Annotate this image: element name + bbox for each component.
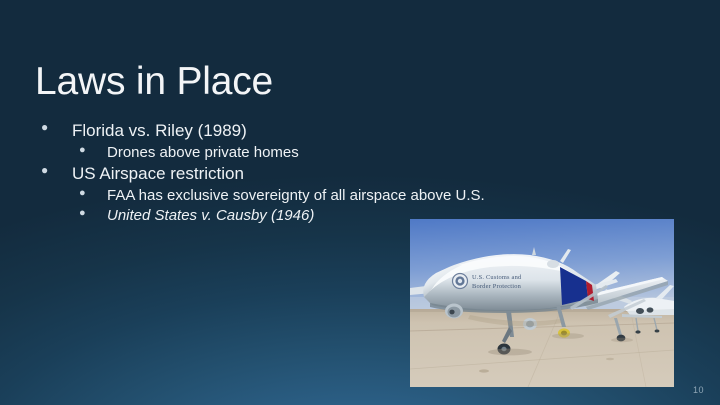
bullet-item: ● Florida vs. Riley (1989): [36, 120, 636, 142]
bullet-list: ● Florida vs. Riley (1989) ● Drones abov…: [36, 120, 636, 226]
bullet-item: ● US Airspace restriction: [36, 163, 636, 185]
aircraft-marking-line2: Border Protection: [472, 283, 522, 290]
aircraft-marking-line1: U.S. Customs and: [472, 274, 522, 281]
bullet-marker-icon: ●: [41, 120, 48, 135]
bullet-item: ● FAA has exclusive sovereignty of all a…: [36, 186, 636, 205]
bullet-text: Florida vs. Riley (1989): [72, 120, 636, 142]
bullet-text: Drones above private homes: [107, 143, 636, 162]
presentation-slide: Laws in Place ● Florida vs. Riley (1989)…: [0, 0, 720, 405]
bullet-marker-icon: ●: [79, 206, 86, 220]
drone-photo: U.S. Customs and Border Protection: [410, 219, 674, 387]
bullet-marker-icon: ●: [79, 186, 86, 200]
bullet-item: ● Drones above private homes: [36, 143, 636, 162]
drone-photo-illustration: U.S. Customs and Border Protection: [410, 219, 674, 387]
bullet-text: FAA has exclusive sovereignty of all air…: [107, 186, 636, 205]
page-title: Laws in Place: [35, 60, 273, 105]
bullet-text: US Airspace restriction: [72, 163, 636, 185]
bullet-marker-icon: ●: [41, 163, 48, 178]
slide-number: 10: [693, 385, 704, 395]
bullet-marker-icon: ●: [79, 143, 86, 157]
